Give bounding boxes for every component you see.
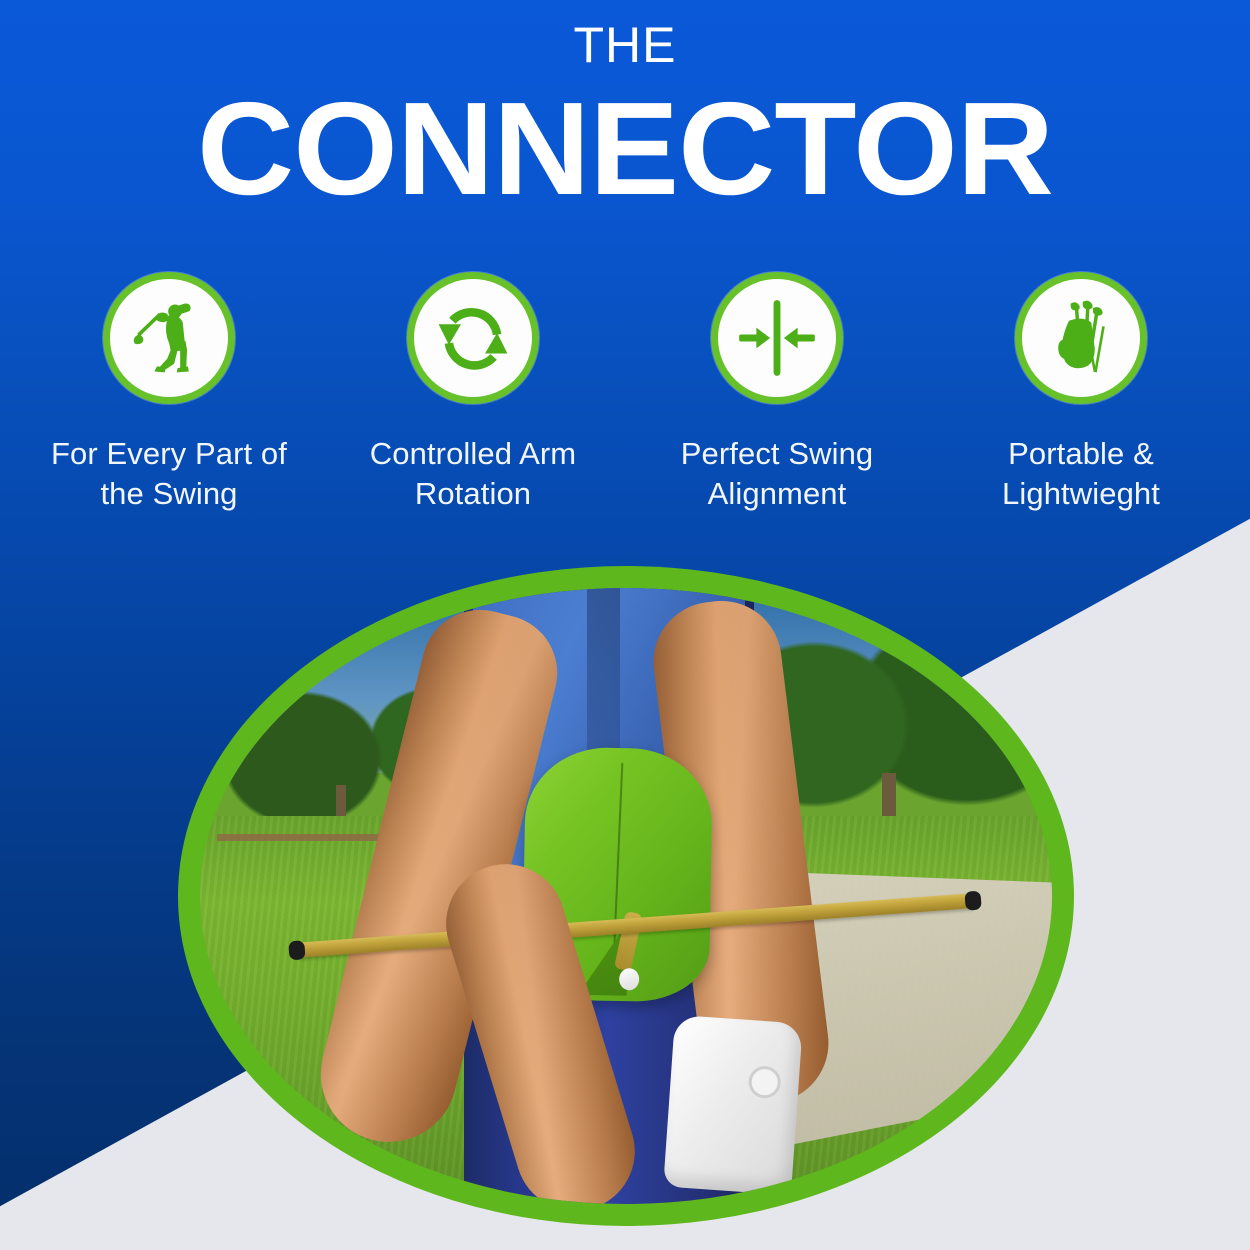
feature-label: For Every Part of the Swing <box>51 434 287 513</box>
promo-poster: THE CONNECTOR <box>0 0 1250 1250</box>
alignment-arrows-icon <box>734 295 820 381</box>
eyebrow-text: THE <box>0 20 1250 70</box>
feature-item-portability: Portable & Lightwieght <box>936 272 1226 513</box>
feature-badge <box>711 272 843 404</box>
product-photo-oval <box>178 566 1074 1226</box>
feature-label-line2: the Swing <box>51 474 287 514</box>
feature-badge <box>407 272 539 404</box>
feature-label: Controlled Arm Rotation <box>370 434 576 513</box>
pad-rod-tip <box>619 969 639 991</box>
feature-item-swing-alignment: Perfect Swing Alignment <box>632 272 922 513</box>
feature-item-arm-rotation: Controlled Arm Rotation <box>328 272 618 513</box>
feature-item-swing-coverage: For Every Part of the Swing <box>24 272 314 513</box>
page-title: CONNECTOR <box>0 80 1250 219</box>
feature-badge <box>1015 272 1147 404</box>
feature-label: Portable & Lightwieght <box>1002 434 1160 513</box>
golf-bag-icon <box>1038 295 1124 381</box>
feature-label-line2: Lightwieght <box>1002 474 1160 514</box>
feature-label: Perfect Swing Alignment <box>681 434 874 513</box>
feature-label-line1: Perfect Swing <box>681 434 874 474</box>
feature-list: For Every Part of the Swing <box>24 272 1226 513</box>
poster-header: THE CONNECTOR <box>0 0 1250 219</box>
rotation-arrows-icon <box>430 295 516 381</box>
photo-scene <box>200 588 1052 1204</box>
feature-label-line2: Alignment <box>681 474 874 514</box>
pad-seam <box>613 763 623 945</box>
feature-label-line1: Portable & <box>1002 434 1160 474</box>
feature-label-line1: For Every Part of <box>51 434 287 474</box>
golf-glove <box>663 1015 803 1196</box>
feature-label-line2: Rotation <box>370 474 576 514</box>
golfer-swing-icon <box>126 295 212 381</box>
feature-label-line1: Controlled Arm <box>370 434 576 474</box>
product-photo <box>200 588 1052 1204</box>
feature-badge <box>103 272 235 404</box>
glove-logo-icon <box>747 1065 781 1099</box>
